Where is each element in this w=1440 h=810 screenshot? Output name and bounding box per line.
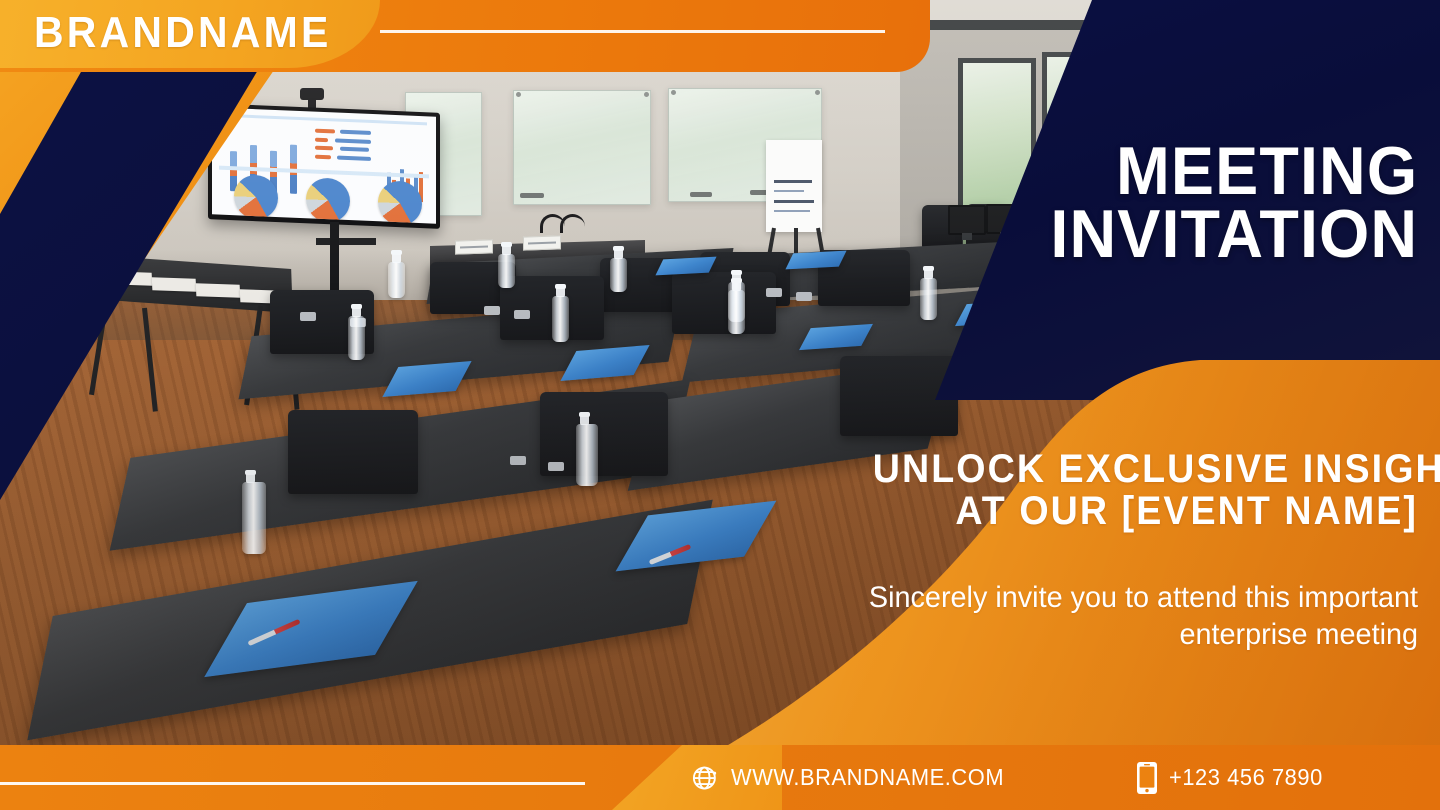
poster-title: MEETING INVITATION [1031,140,1418,265]
brand-name: BRANDNAME [34,8,332,58]
headline-line-1: UNLOCK EXCLUSIVE INSIGHTS [873,448,1418,490]
bottom-divider-line [0,782,585,785]
body-text: Sincerely invite you to attend this impo… [823,580,1418,653]
water-bottle [348,316,365,360]
mic-clip [300,312,316,321]
website-contact[interactable]: WWW.BRANDNAME.COM [690,763,1018,793]
water-bottle [920,278,937,320]
meeting-invitation-poster: BRANDNAME MEETING INVITATION UNLOCK EXCL… [0,0,1440,810]
water-bottle [552,296,569,342]
flipchart [766,140,822,232]
dashboard-slide [212,107,436,223]
mic-clip [514,310,530,319]
water-bottle [242,482,266,554]
website-text: WWW.BRANDNAME.COM [731,764,1004,791]
phone-contact[interactable]: +123 456 7890 [1136,761,1331,795]
monitor [948,205,986,235]
title-line-2: INVITATION [1050,203,1418,266]
chair [672,272,776,334]
paper [152,277,197,292]
microphone [560,214,585,233]
title-line-1: MEETING [1050,140,1418,203]
headline: UNLOCK EXCLUSIVE INSIGHTS AT OUR [EVENT … [838,448,1418,533]
water-bottle [498,254,515,288]
water-bottle [388,262,405,298]
water-bottle [576,424,598,486]
water-bottle [610,258,627,292]
board-clip [815,90,820,95]
presentation-screen [208,103,440,229]
mic-clip [548,462,564,471]
mic-clip [796,292,812,301]
mic-clip [766,288,782,297]
board-clip [671,90,676,95]
marker-tray [690,192,712,197]
globe-icon [690,763,720,793]
mobile-phone-icon [1136,761,1158,795]
paper [196,283,241,298]
board-clip [516,92,521,97]
marker-tray [520,193,544,198]
document-folder [785,251,846,270]
contact-bar: WWW.BRANDNAME.COM +123 456 7890 [690,745,1440,810]
mic-clip [510,456,526,465]
whiteboard [513,90,651,205]
water-bottle [728,290,745,334]
mic-clip [484,306,500,315]
name-card [455,239,493,254]
tv-stand-shelf [316,238,376,245]
top-divider-line [380,30,885,33]
board-clip [644,92,649,97]
name-card [523,235,561,250]
document-folder [655,257,716,276]
headline-line-2: AT OUR [EVENT NAME] [873,490,1418,532]
chair [288,410,418,494]
phone-text: +123 456 7890 [1169,764,1323,791]
